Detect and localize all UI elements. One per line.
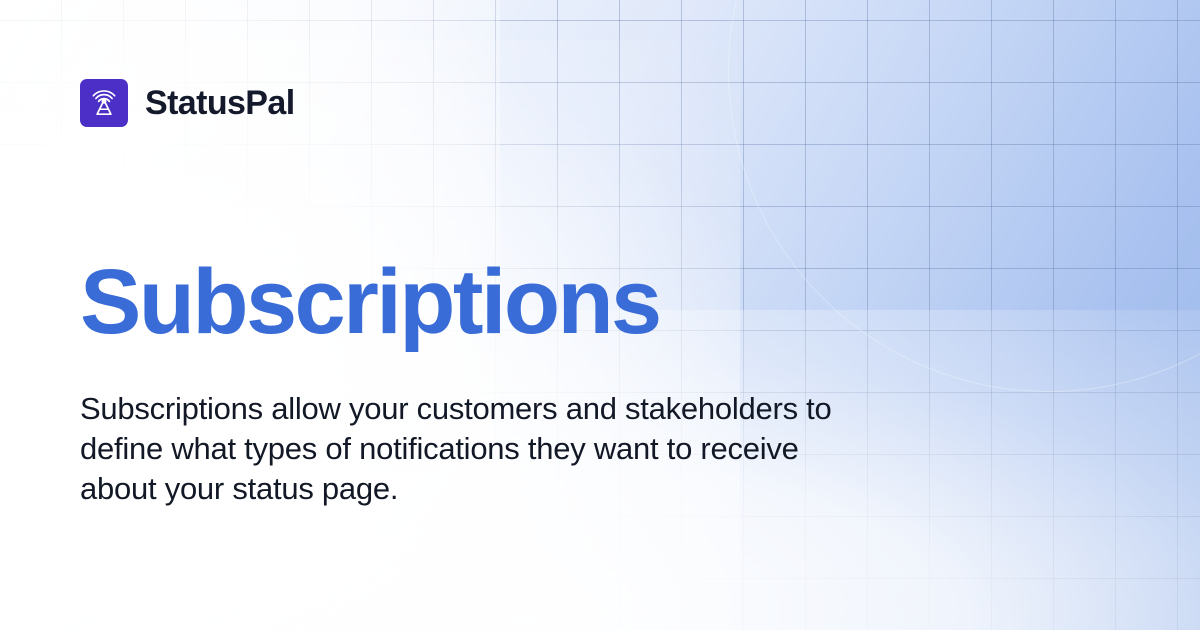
brand-lockup[interactable]: StatusPal xyxy=(80,79,295,127)
broadcast-tower-icon xyxy=(80,79,128,127)
page-description: Subscriptions allow your customers and s… xyxy=(80,389,870,509)
page-title: Subscriptions xyxy=(80,256,660,348)
brand-name: StatusPal xyxy=(145,86,295,120)
og-card: StatusPal Subscriptions Subscriptions al… xyxy=(0,0,1200,630)
card-content: StatusPal Subscriptions Subscriptions al… xyxy=(0,0,1200,630)
